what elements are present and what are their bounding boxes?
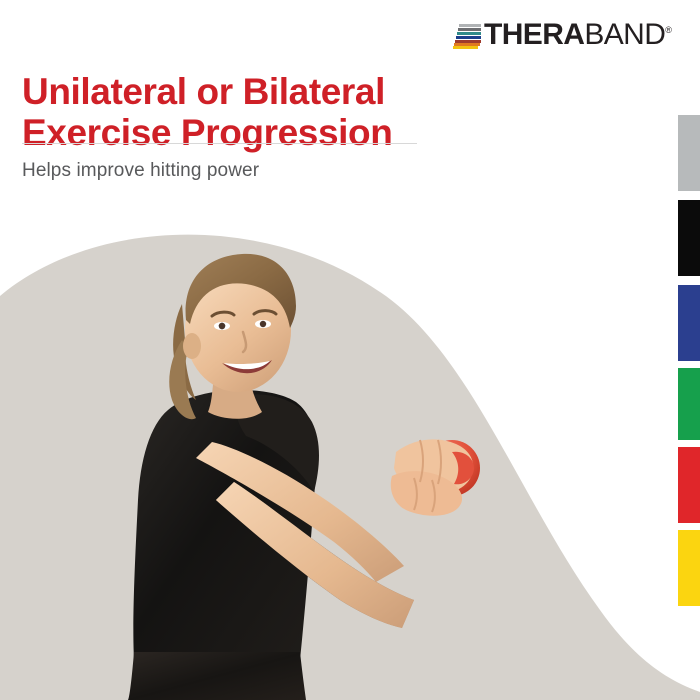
color-swatch-silver xyxy=(678,115,700,191)
pants xyxy=(128,652,306,700)
page-title-line-1: Unilateral or Bilateral xyxy=(22,71,492,112)
resistance-color-legend xyxy=(678,110,700,600)
registered-trademark-symbol: ® xyxy=(665,25,671,35)
brand-wordmark: THERABAND® xyxy=(484,20,671,50)
brand-name-light: BAND xyxy=(584,18,665,51)
brand-name-bold: THERA xyxy=(484,18,584,51)
page-title: Unilateral or Bilateral Exercise Progres… xyxy=(22,71,492,154)
color-swatch-red xyxy=(678,447,700,523)
color-swatch-yellow xyxy=(678,530,700,606)
theraband-stacked-bars-logo-icon xyxy=(452,23,482,48)
exercise-photo xyxy=(0,200,700,700)
title-divider xyxy=(22,143,417,144)
page-subtitle: Helps improve hitting power xyxy=(22,160,259,182)
page-title-line-2: Exercise Progression xyxy=(22,112,492,153)
color-swatch-blue xyxy=(678,285,700,361)
exercise-card-page: THERABAND® Unilateral or Bilateral Exerc… xyxy=(0,0,700,700)
color-swatch-green xyxy=(678,368,700,440)
theraband-logo: THERABAND® xyxy=(452,18,671,52)
color-swatch-black xyxy=(678,200,700,276)
